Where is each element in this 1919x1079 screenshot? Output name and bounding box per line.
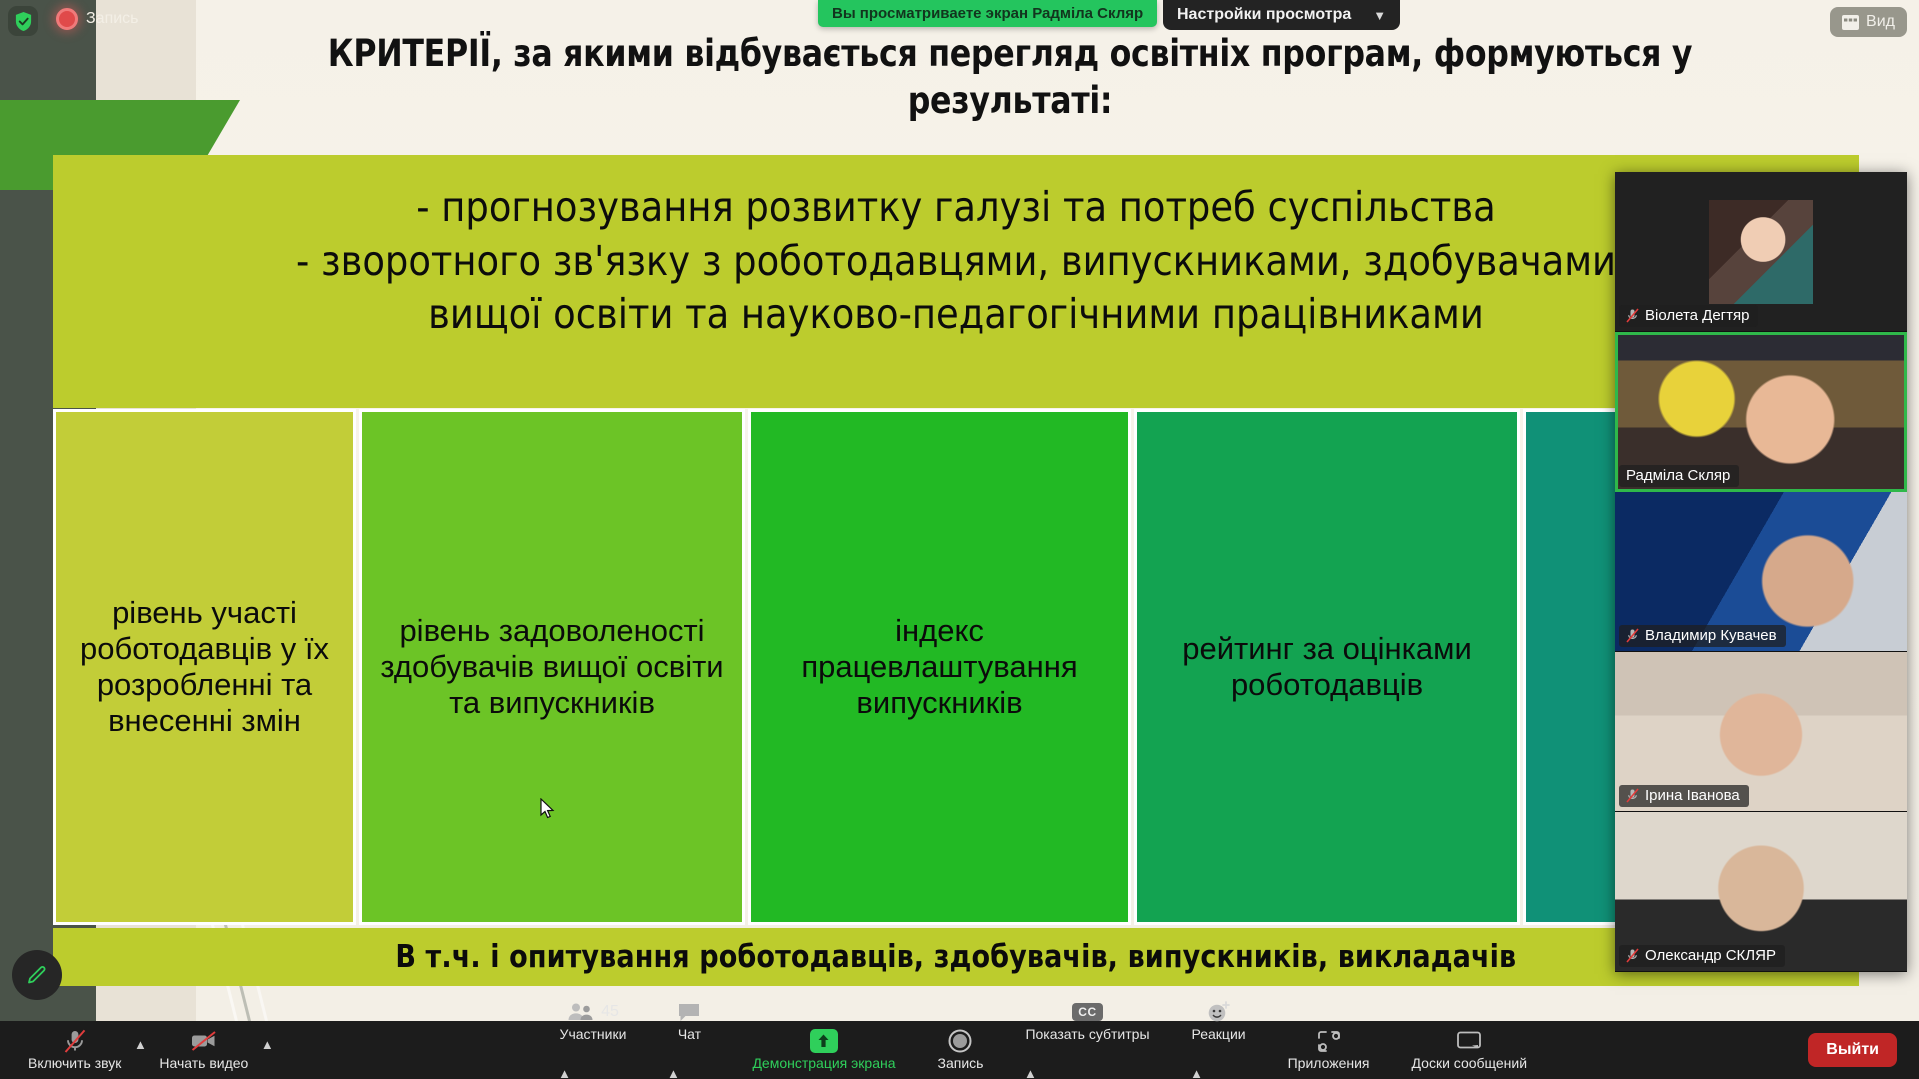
- banner-line-1: - прогнозування розвитку галузі та потре…: [53, 181, 1859, 235]
- security-shield-button[interactable]: [8, 6, 38, 36]
- leave-meeting-button[interactable]: Выйти: [1808, 1033, 1897, 1067]
- slide-title: КРИТЕРІЇ, за якими відбувається перегляд…: [279, 30, 1742, 125]
- whiteboards-button[interactable]: Доски сообщений: [1406, 1021, 1534, 1079]
- participant-tile[interactable]: Ірина Іванова: [1615, 652, 1907, 812]
- video-options-chevron-icon[interactable]: ▲: [256, 1021, 278, 1079]
- unmute-label: Включить звук: [28, 1055, 121, 1071]
- participant-tile[interactable]: Віолета Дегтяр: [1615, 172, 1907, 332]
- participants-button[interactable]: 45 Участники: [554, 992, 633, 1050]
- apps-button[interactable]: Приложения: [1282, 1021, 1376, 1079]
- recording-dot-icon: [56, 8, 78, 30]
- criteria-column: рівень задоволеності здобувачів вищої ос…: [359, 409, 745, 925]
- zoom-meeting-window: КРИТЕРІЇ, за якими відбувається перегляд…: [0, 0, 1919, 1079]
- share-screen-label: Демонстрация экрана: [752, 1055, 895, 1071]
- chevron-down-icon: ▼: [1373, 8, 1386, 23]
- pen-annotate-icon: [25, 963, 49, 987]
- reactions-options-chevron-icon[interactable]: ▲: [1186, 1050, 1208, 1079]
- participant-name: Ірина Іванова: [1645, 787, 1740, 804]
- camera-muted-icon: [190, 1030, 218, 1052]
- participant-name: Владимир Кувачев: [1645, 627, 1777, 644]
- start-video-label: Начать видео: [159, 1055, 248, 1071]
- captions-button[interactable]: CC Показать субтитры: [1019, 992, 1155, 1050]
- captions-options-chevron-icon[interactable]: ▲: [1019, 1050, 1041, 1079]
- grid-view-icon: [1842, 15, 1859, 30]
- meeting-toolbar: Включить звук ▲ Начать видео ▲: [0, 1021, 1919, 1079]
- participants-options-chevron-icon[interactable]: ▲: [554, 1050, 576, 1079]
- reactions-label: Реакции: [1192, 1026, 1246, 1042]
- whiteboards-label: Доски сообщений: [1412, 1055, 1528, 1071]
- mic-muted-icon: [1626, 788, 1639, 803]
- mouse-cursor: [540, 798, 556, 820]
- criteria-column-text: рівень задоволеності здобувачів вищої ос…: [376, 613, 728, 721]
- view-settings-button[interactable]: Настройки просмотра ▼: [1163, 0, 1400, 30]
- criteria-column: індекс працевлаштування випускників: [748, 409, 1131, 925]
- participant-name: Олександр СКЛЯР: [1645, 947, 1776, 964]
- share-screen-button[interactable]: Демонстрация экрана: [746, 1021, 901, 1079]
- criteria-column: рейтинг за оцінками роботодавців: [1134, 409, 1520, 925]
- participant-tile[interactable]: Олександр СКЛЯР: [1615, 812, 1907, 972]
- captions-badge: CC: [1072, 1003, 1102, 1021]
- unmute-button[interactable]: Включить звук: [22, 1021, 127, 1079]
- whiteboard-icon: [1456, 1030, 1482, 1052]
- view-layout-label: Вид: [1866, 13, 1895, 31]
- slide-bottom-strip-text: В т.ч. і опитування роботодавців, здобув…: [396, 939, 1517, 975]
- participant-name: Радміла Скляр: [1626, 467, 1730, 484]
- participant-namebar: Олександр СКЛЯР: [1619, 945, 1785, 967]
- avatar: [1709, 200, 1813, 304]
- slide-lime-banner: - прогнозування розвитку галузі та потре…: [53, 155, 1859, 408]
- mic-muted-icon: [1626, 948, 1639, 963]
- criteria-column: рівень участі роботодавців у їх розробле…: [53, 409, 356, 925]
- mic-muted-icon: [1626, 308, 1639, 323]
- apps-label: Приложения: [1288, 1055, 1370, 1071]
- banner-line-2: - зворотного зв'язку з роботодавцями, ви…: [53, 235, 1859, 289]
- shield-check-icon: [14, 11, 33, 32]
- criteria-column-text: рівень участі роботодавців у їх розробле…: [70, 595, 339, 739]
- screen-share-banner: Вы просматриваете экран Радміла Скляр: [818, 0, 1157, 27]
- participant-namebar: Радміла Скляр: [1619, 465, 1739, 487]
- criteria-column-text: рейтинг за оцінками роботодавців: [1151, 631, 1503, 703]
- criteria-column-text: індекс працевлаштування випускників: [765, 613, 1114, 721]
- participant-namebar: Ірина Іванова: [1619, 785, 1749, 807]
- chat-label: Чат: [678, 1026, 701, 1042]
- mic-muted-icon: [62, 1028, 88, 1054]
- participant-name: Віолета Дегтяр: [1645, 307, 1749, 324]
- apps-icon: [1317, 1030, 1341, 1053]
- slide-bottom-strip: В т.ч. і опитування роботодавців, здобув…: [53, 928, 1859, 986]
- participants-label: Участники: [560, 1026, 627, 1042]
- participant-tile[interactable]: Радміла Скляр: [1615, 332, 1907, 492]
- criteria-columns: рівень участі роботодавців у їх розробле…: [53, 409, 1859, 925]
- reactions-button[interactable]: Реакции: [1186, 992, 1252, 1050]
- screen-share-banner-text: Вы просматриваете экран Радміла Скляр: [832, 5, 1143, 22]
- participants-icon: [567, 1002, 595, 1022]
- participants-count: 45: [601, 1003, 619, 1021]
- participant-tile[interactable]: Владимир Кувачев: [1615, 492, 1907, 652]
- audio-options-chevron-icon[interactable]: ▲: [129, 1021, 151, 1079]
- participant-namebar: Владимир Кувачев: [1619, 625, 1786, 647]
- recording-label: Запись: [86, 10, 139, 28]
- mic-muted-icon: [1626, 628, 1639, 643]
- chat-options-chevron-icon[interactable]: ▲: [662, 1050, 684, 1079]
- view-layout-button[interactable]: Вид: [1830, 7, 1907, 37]
- chat-button[interactable]: Чат: [662, 992, 716, 1050]
- record-label: Запись: [938, 1055, 984, 1071]
- participant-namebar: Віолета Дегтяр: [1619, 305, 1758, 327]
- record-button[interactable]: Запись: [932, 1021, 990, 1079]
- captions-label: Показать субтитры: [1025, 1026, 1149, 1042]
- recording-indicator[interactable]: Запись: [56, 8, 139, 30]
- chat-icon: [677, 1002, 701, 1023]
- share-screen-icon: [810, 1029, 838, 1053]
- start-video-button[interactable]: Начать видео: [153, 1021, 254, 1079]
- annotate-pen-button[interactable]: [12, 950, 62, 1000]
- view-settings-label: Настройки просмотра: [1177, 6, 1351, 24]
- reactions-icon: [1206, 1000, 1232, 1024]
- banner-line-3: вищої освіти та науково-педагогічними пр…: [53, 288, 1859, 342]
- participant-filmstrip[interactable]: Віолета Дегтяр Радміла Скляр Владимир Ку…: [1615, 172, 1907, 972]
- record-icon: [948, 1029, 972, 1053]
